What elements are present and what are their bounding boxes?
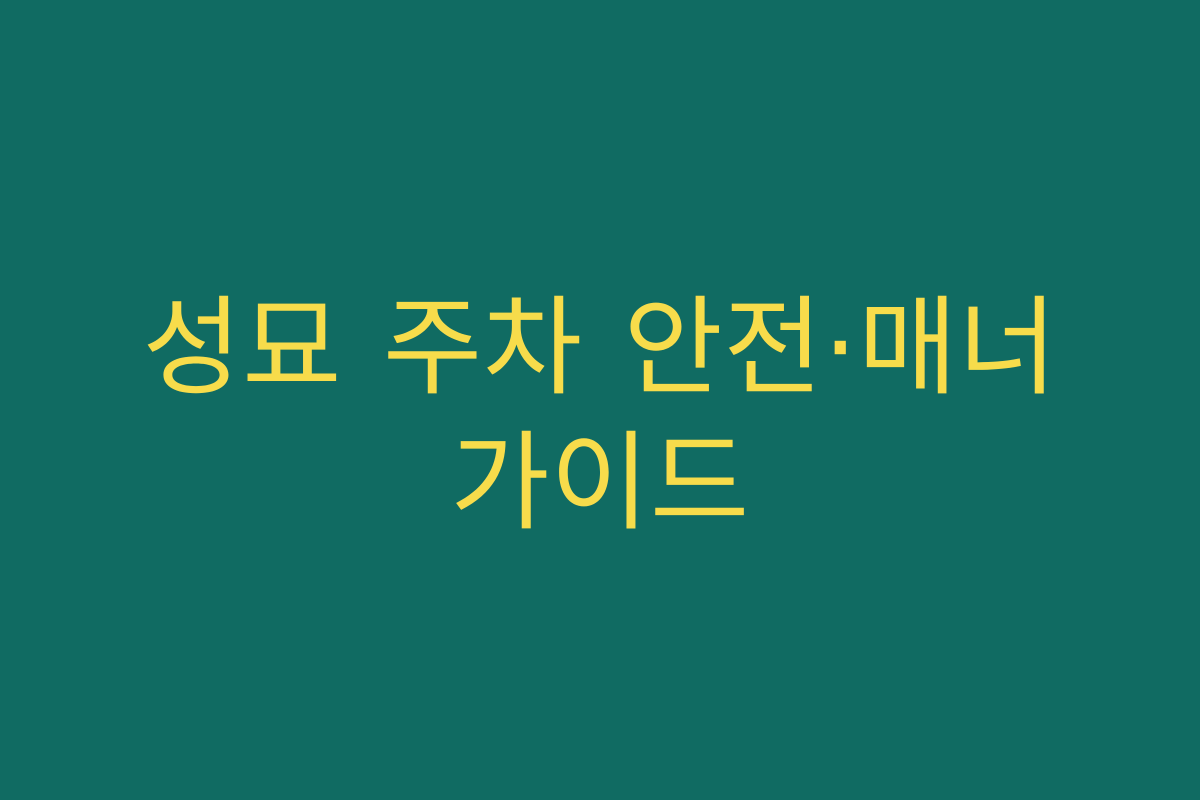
banner-canvas: 성묘 주차 안전·매너 가이드 [0, 0, 1200, 800]
headline-block: 성묘 주차 안전·매너 가이드 [0, 281, 1200, 551]
page-title: 성묘 주차 안전·매너 가이드 [78, 281, 1122, 551]
